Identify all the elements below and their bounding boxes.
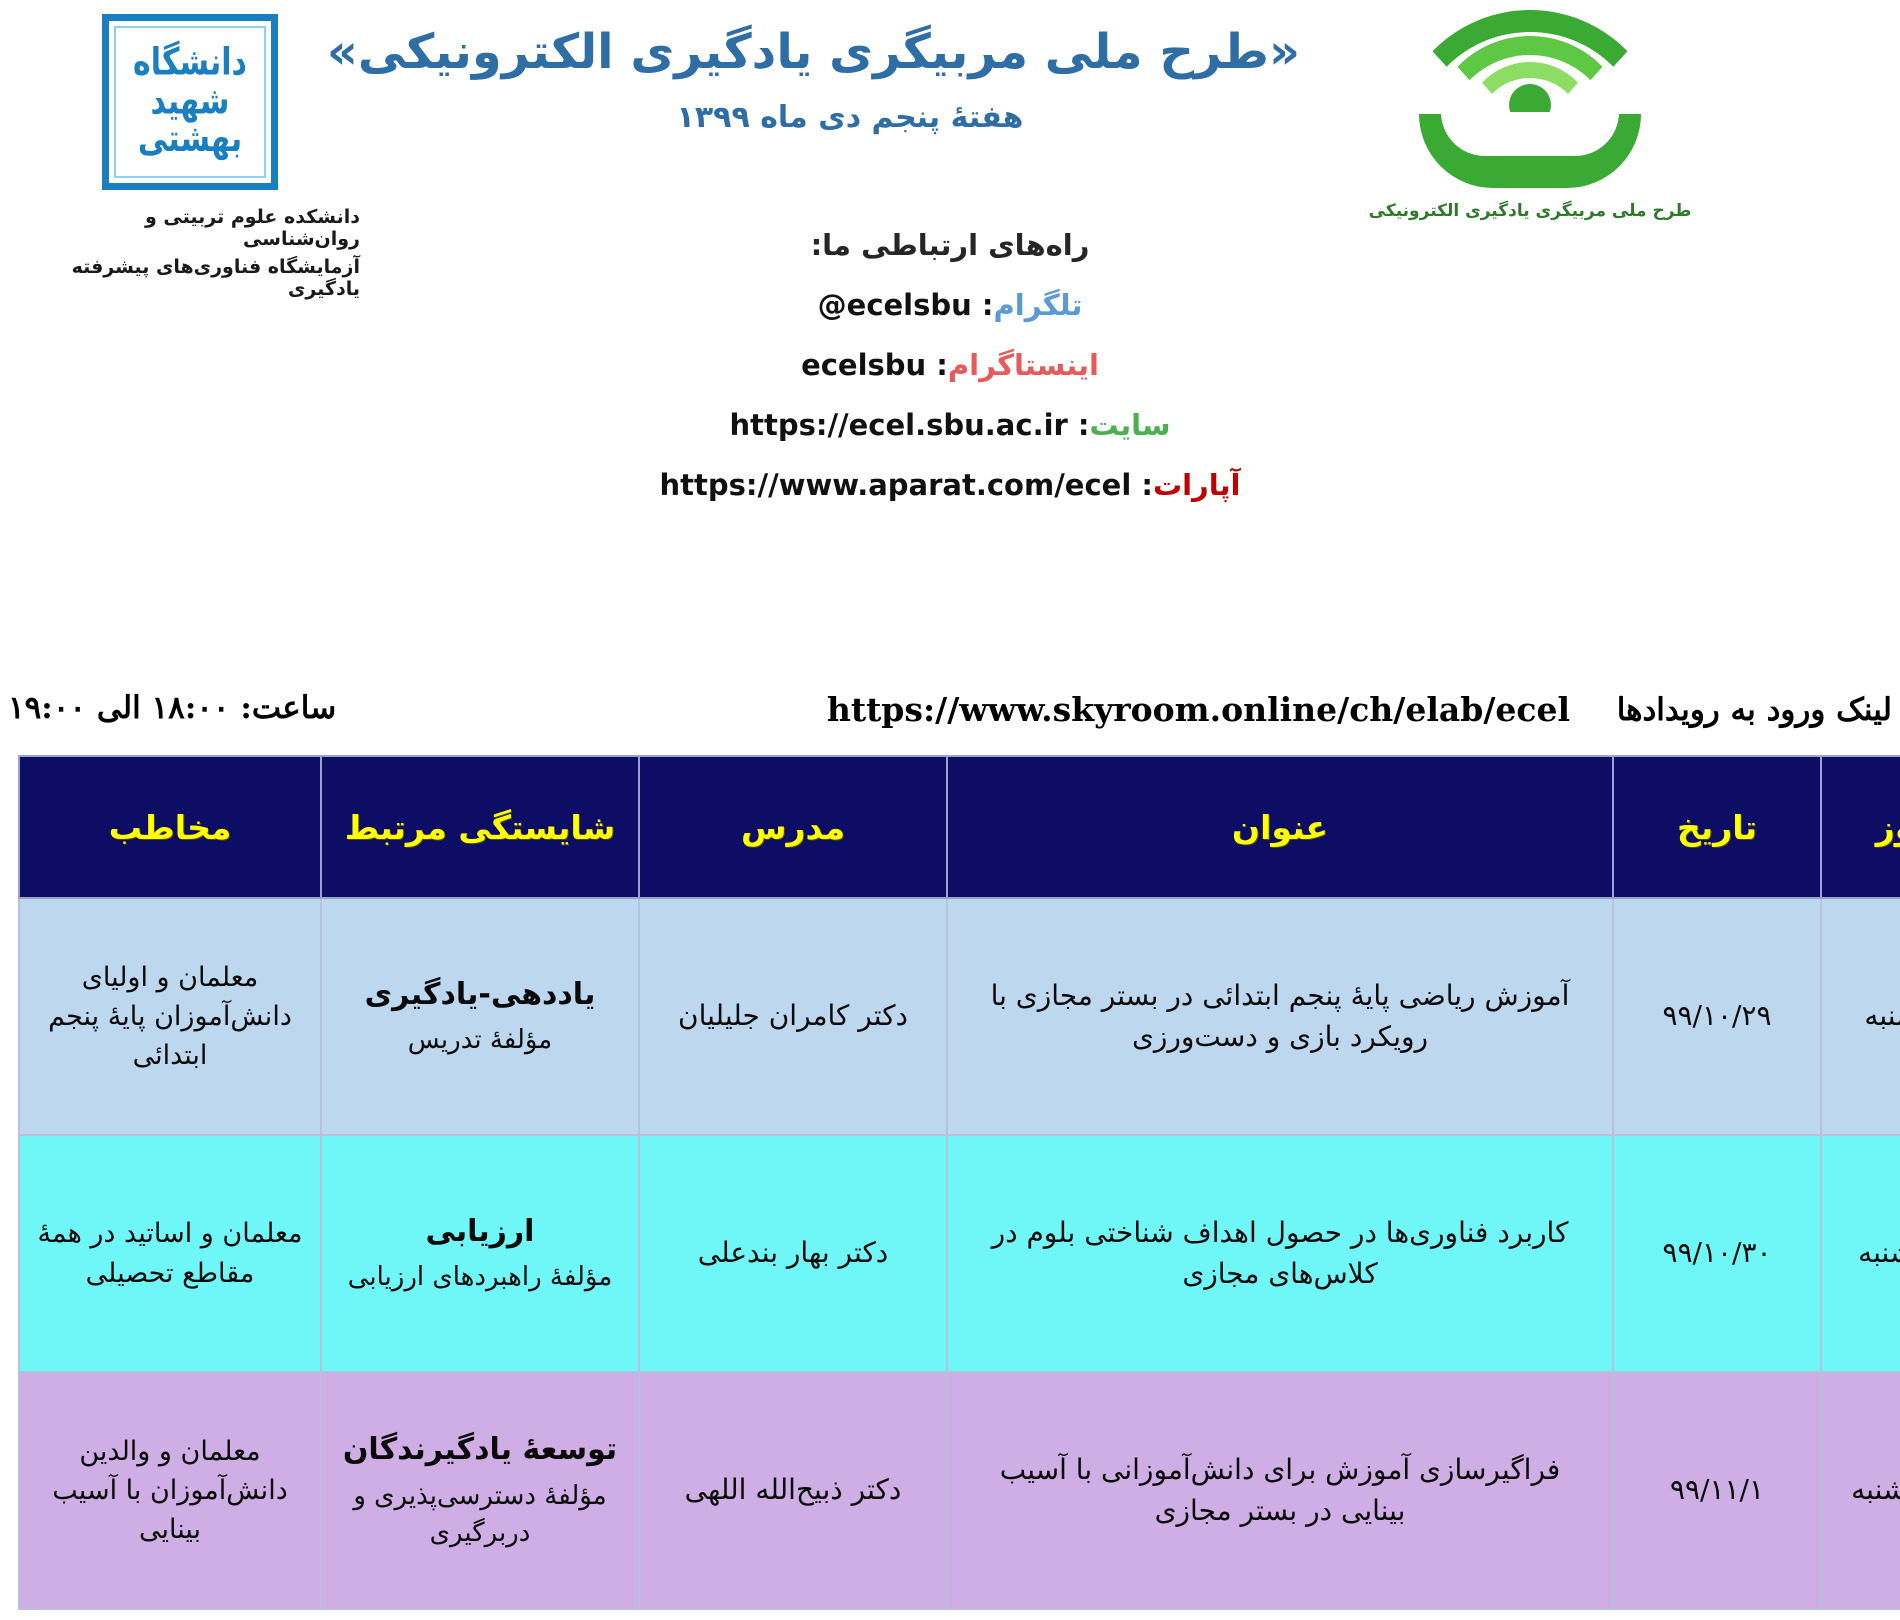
cell-audience: معلمان و اساتید در همهٔ مقاطع تحصیلی (19, 1135, 321, 1372)
cell-competency: ارزیابی مؤلفهٔ راهبردهای ارزیابی (321, 1135, 639, 1372)
entry-link-label: لینک ورود به رویدادها (1617, 692, 1892, 728)
contact-colon: : (1131, 468, 1153, 502)
column-header-title: عنوان (947, 756, 1613, 898)
faculty-name-line-1: دانشکده علوم تربیتی و روان‌شناسی (20, 206, 360, 250)
cell-day: سه‌شنبه (1821, 1135, 1900, 1372)
cell-competency: یاددهی-یادگیری مؤلفهٔ تدریس (321, 898, 639, 1135)
session-time: ساعت: ۱۸:۰۰ الی ۱۹:۰۰ (8, 690, 336, 726)
contact-value-telegram[interactable]: @ecelsbu (818, 288, 972, 322)
cell-day: دوشنبه (1821, 898, 1900, 1135)
faculty-name-line-2: آزمایشگاه فناوری‌های پیشرفته یادگیری (20, 256, 360, 300)
competency-sub: مؤلفهٔ راهبردهای ارزیابی (334, 1259, 626, 1297)
contact-label-website: سایت (1090, 408, 1171, 442)
contact-row-instagram: اینستاگرام: ecelsbu (430, 348, 1470, 382)
cell-audience: معلمان و اولیای دانش‌آموزان پایهٔ پنجم ا… (19, 898, 321, 1135)
cell-instructor: دکتر کامران جلیلیان (639, 898, 947, 1135)
column-header-day: روز (1821, 756, 1900, 898)
table-row: سه‌شنبه ۹۹/۱۰/۳۰ کاربرد فناوری‌ها در حصو… (19, 1135, 1900, 1372)
column-header-audience: مخاطب (19, 756, 321, 898)
cell-instructor: دکتر بهار بندعلی (639, 1135, 947, 1372)
contact-colon: : (926, 348, 948, 382)
table-header-row: روز تاریخ عنوان مدرس شایستگی مرتبط مخاطب (19, 756, 1900, 898)
page-title: «طرح ملی مربیگری یادگیری الکترونیکی» (400, 22, 1300, 82)
ecel-program-logo-icon (1400, 10, 1660, 195)
entry-link-strip: لینک ورود به رویدادها https://www.skyroo… (0, 690, 1900, 750)
shahid-beheshti-university-logo-icon: دانشگاه شهید بهشتی (102, 14, 278, 190)
contact-block: راه‌های ارتباطی ما: تلگرام: @ecelsbu این… (430, 228, 1470, 528)
cell-date: ۹۹/۱۱/۱ (1613, 1372, 1821, 1609)
schedule-table: روز تاریخ عنوان مدرس شایستگی مرتبط مخاطب… (18, 755, 1900, 1610)
contact-heading: راه‌های ارتباطی ما: (430, 228, 1470, 262)
cell-title: آموزش ریاضی پایهٔ پنجم ابتدائی در بستر م… (947, 898, 1613, 1135)
contact-colon: : (1068, 408, 1090, 442)
university-logo-block: دانشگاه شهید بهشتی دانشکده علوم تربیتی و… (20, 14, 360, 300)
logo-frame: دانشگاه شهید بهشتی (114, 26, 266, 178)
table-row: چهارشنبه ۹۹/۱۱/۱ فراگیرسازی آموزش برای د… (19, 1372, 1900, 1609)
contact-value-aparat[interactable]: https://www.aparat.com/ecel (660, 468, 1132, 502)
contact-label-instagram: اینستاگرام (948, 348, 1099, 382)
cell-title: کاربرد فناوری‌ها در حصول اهداف شناختی بل… (947, 1135, 1613, 1372)
cell-day: چهارشنبه (1821, 1372, 1900, 1609)
column-header-competency: شایستگی مرتبط (321, 756, 639, 898)
contact-value-website[interactable]: https://ecel.sbu.ac.ir (729, 408, 1067, 442)
contact-row-telegram: تلگرام: @ecelsbu (430, 288, 1470, 322)
contact-value-instagram[interactable]: ecelsbu (801, 348, 926, 382)
contact-label-aparat: آپارات (1153, 468, 1241, 502)
cell-date: ۹۹/۱۰/۳۰ (1613, 1135, 1821, 1372)
program-logo-caption: طرح ملی مربیگری یادگیری الکترونیکی (1320, 201, 1740, 221)
contact-label-telegram: تلگرام (994, 288, 1083, 322)
competency-main: ارزیابی (334, 1210, 626, 1254)
competency-sub: مؤلفهٔ تدریس (334, 1022, 626, 1060)
competency-main: یاددهی-یادگیری (334, 973, 626, 1017)
competency-main: توسعهٔ یادگیرندگان (334, 1428, 626, 1472)
cell-audience: معلمان و والدین دانش‌آموزان با آسیب بینا… (19, 1372, 321, 1609)
program-logo-block: طرح ملی مربیگری یادگیری الکترونیکی (1320, 10, 1740, 221)
column-header-date: تاریخ (1613, 756, 1821, 898)
contact-row-website: سایت: https://ecel.sbu.ac.ir (430, 408, 1470, 442)
entry-link-url[interactable]: https://www.skyroom.online/ch/elab/ecel (827, 690, 1570, 729)
table-header: روز تاریخ عنوان مدرس شایستگی مرتبط مخاطب (19, 756, 1900, 898)
cell-title: فراگیرسازی آموزش برای دانش‌آموزانی با آس… (947, 1372, 1613, 1609)
table-body: دوشنبه ۹۹/۱۰/۲۹ آموزش ریاضی پایهٔ پنجم ا… (19, 898, 1900, 1609)
cell-date: ۹۹/۱۰/۲۹ (1613, 898, 1821, 1135)
cell-instructor: دکتر ذبیح‌الله اللهی (639, 1372, 947, 1609)
logo-calligraphy-text: دانشگاه شهید بهشتی (116, 45, 264, 160)
contact-row-aparat: آپارات: https://www.aparat.com/ecel (430, 468, 1470, 502)
table-row: دوشنبه ۹۹/۱۰/۲۹ آموزش ریاضی پایهٔ پنجم ا… (19, 898, 1900, 1135)
page-subtitle: هفتهٔ پنجم دی ماه ۱۳۹۹ (400, 100, 1300, 135)
title-block: «طرح ملی مربیگری یادگیری الکترونیکی» هفت… (400, 22, 1300, 135)
column-header-instructor: مدرس (639, 756, 947, 898)
logo-hands-shape (1419, 114, 1641, 188)
cell-competency: توسعهٔ یادگیرندگان مؤلفهٔ دسترسی‌پذیری و… (321, 1372, 639, 1609)
competency-sub: مؤلفهٔ دسترسی‌پذیری و دربرگیری (334, 1478, 626, 1553)
contact-colon: : (972, 288, 994, 322)
